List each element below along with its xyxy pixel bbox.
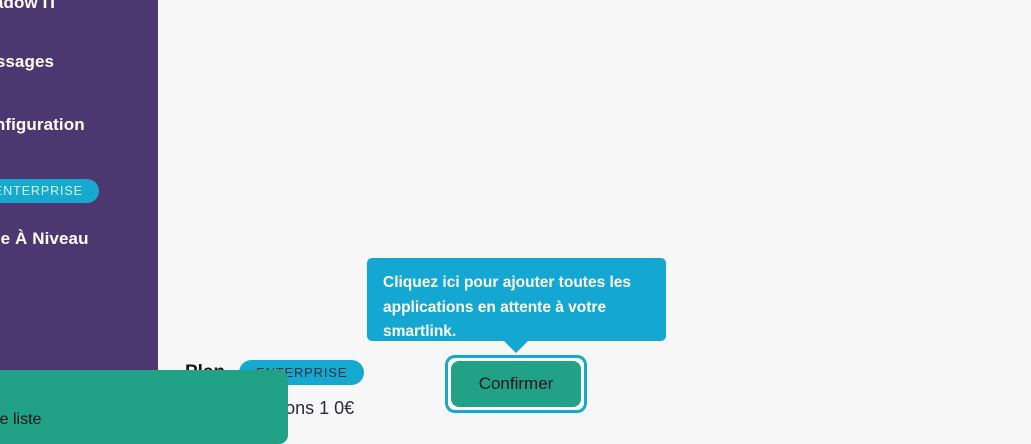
sidebar-item-messages[interactable]: Messages	[0, 52, 54, 72]
tooltip-arrow-icon	[503, 340, 529, 353]
toast-notification[interactable]: App ajoutée Maxim ajouté à votre liste	[0, 370, 288, 444]
confirm-button[interactable]: Confirmer	[451, 361, 581, 407]
sidebar-plan-badge: ENTERPRISE	[0, 179, 99, 203]
sidebar-item-configuration[interactable]: Configuration	[0, 115, 85, 135]
toast-body: Maxim ajouté à votre liste	[0, 407, 268, 432]
confirm-button-focus-ring: Confirmer	[445, 355, 587, 413]
tooltip-callout: Cliquez ici pour ajouter toutes les appl…	[367, 258, 666, 341]
sidebar-item-upgrade[interactable]: Mise À Niveau	[0, 229, 89, 249]
toast-title: App ajoutée	[0, 384, 268, 407]
sidebar-item-shadow-it[interactable]: Shadow IT	[0, 0, 58, 13]
tooltip-text: Cliquez ici pour ajouter toutes les appl…	[383, 271, 650, 345]
main-content: Plan ENTERPRISE des applications 1 0€	[158, 0, 1031, 444]
